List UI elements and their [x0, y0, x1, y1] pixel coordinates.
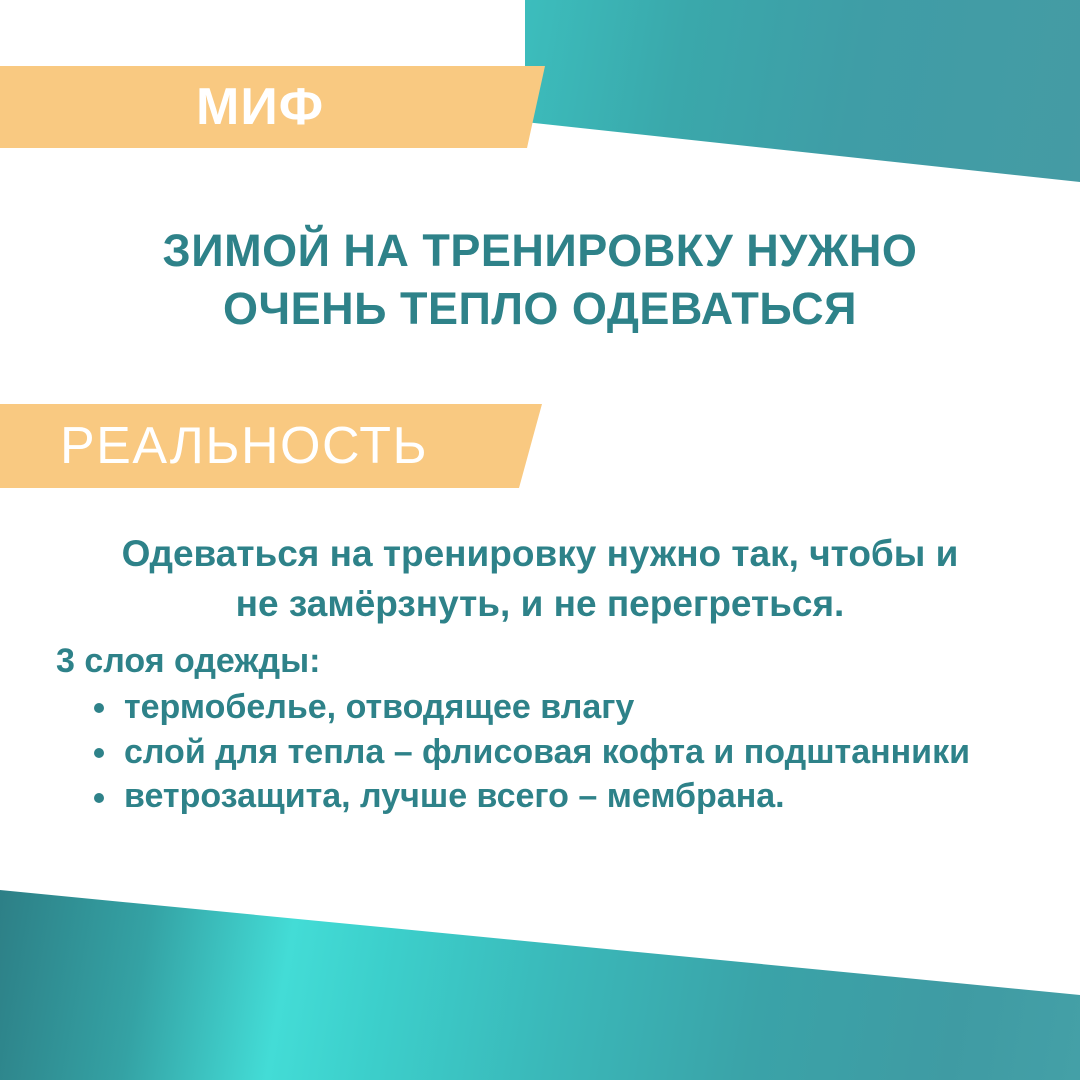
- myth-headline: ЗИМОЙ НА ТРЕНИРОВКУ НУЖНО ОЧЕНЬ ТЕПЛО ОД…: [0, 222, 1080, 337]
- list-item-label: ветрозащита, лучше всего – мембрана.: [124, 777, 785, 815]
- layers-title: 3 слоя одежды:: [56, 641, 1016, 682]
- layers-bullet-list: термобелье, отводящее влагу слой для теп…: [92, 686, 1016, 818]
- list-item: ветрозащита, лучше всего – мембрана.: [92, 775, 1016, 818]
- reality-banner-label: РЕАЛЬНОСТЬ: [60, 420, 428, 472]
- myth-banner-label: МИФ: [196, 81, 324, 133]
- reality-lead-line-1: Одеваться на тренировку нужно так, чтобы…: [30, 529, 1050, 579]
- myth-headline-line-2: ОЧЕНЬ ТЕПЛО ОДЕВАТЬСЯ: [0, 280, 1080, 338]
- bullet-dot-icon: [94, 748, 104, 758]
- reality-banner: РЕАЛЬНОСТЬ: [0, 404, 542, 488]
- reality-lead-line-2: не замёрзнуть, и не перегреться.: [30, 579, 1050, 629]
- infographic-poster: МИФ ЗИМОЙ НА ТРЕНИРОВКУ НУЖНО ОЧЕНЬ ТЕПЛ…: [0, 0, 1080, 1080]
- clothing-layers-block: 3 слоя одежды: термобелье, отводящее вла…: [56, 641, 1016, 820]
- myth-headline-line-1: ЗИМОЙ НА ТРЕНИРОВКУ НУЖНО: [0, 222, 1080, 280]
- myth-banner: МИФ: [0, 66, 545, 148]
- bottom-teal-banner-shape: [0, 880, 1080, 1080]
- list-item: слой для тепла – флисовая кофта и подшта…: [92, 731, 1016, 774]
- bullet-dot-icon: [94, 793, 104, 803]
- list-item-label: термобелье, отводящее влагу: [124, 688, 634, 726]
- bullet-dot-icon: [94, 703, 104, 713]
- reality-lead-paragraph: Одеваться на тренировку нужно так, чтобы…: [30, 529, 1050, 630]
- list-item: термобелье, отводящее влагу: [92, 686, 1016, 729]
- list-item-label: слой для тепла – флисовая кофта и подшта…: [124, 733, 970, 771]
